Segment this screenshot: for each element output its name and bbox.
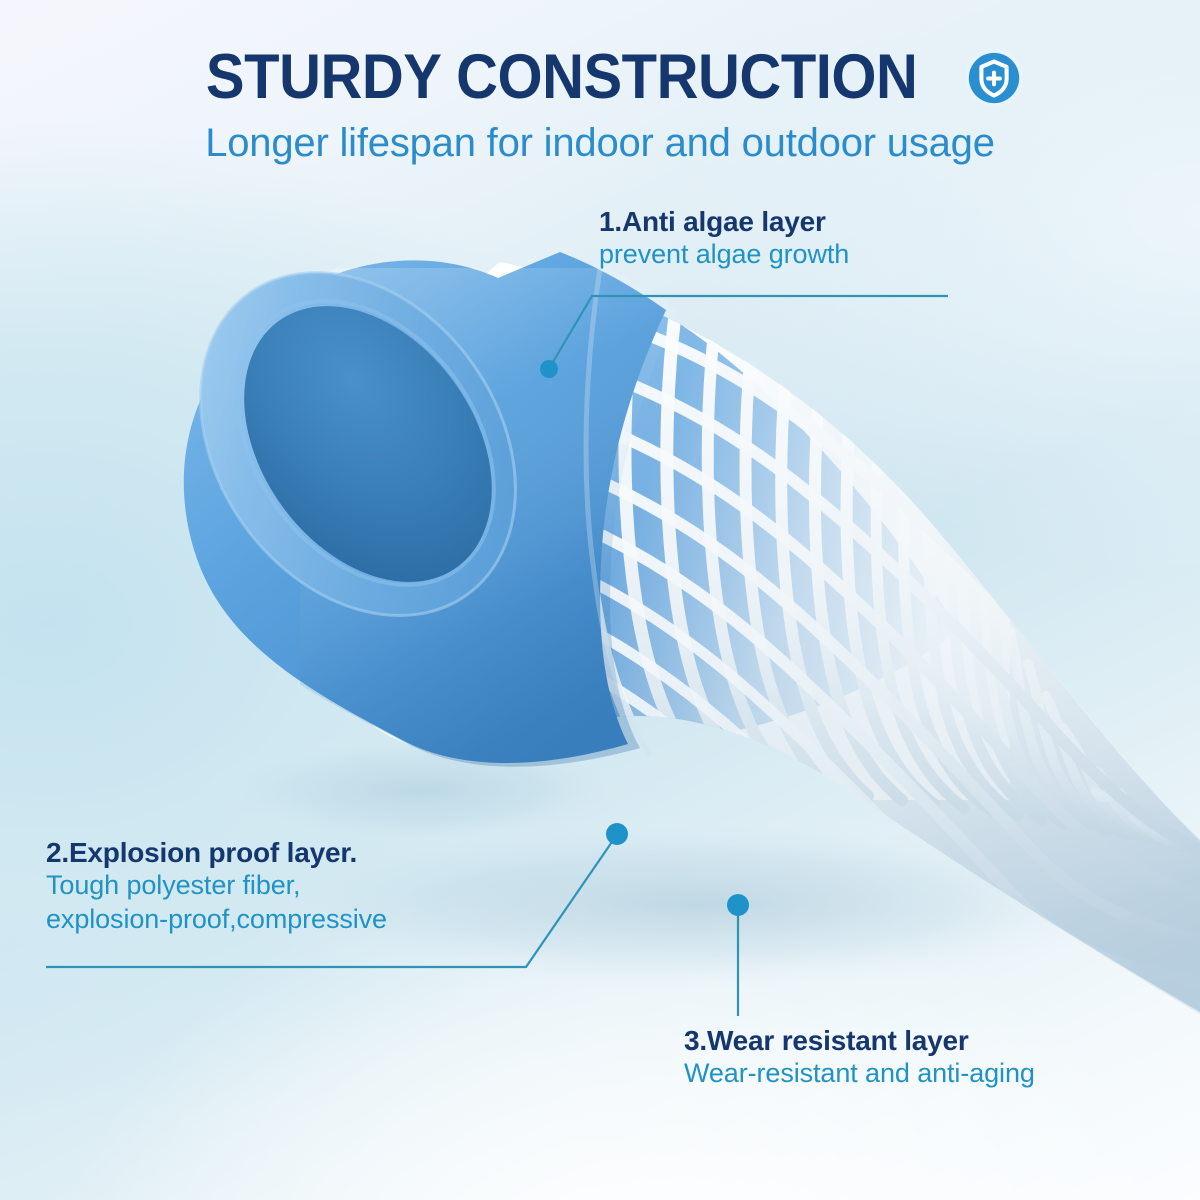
callout-2-desc: Tough polyester fiber,	[46, 869, 387, 902]
page-title: STURDY CONSTRUCTION	[206, 46, 917, 109]
callout-2-title: 2.Explosion proof layer.	[46, 836, 387, 869]
infographic-canvas: STURDY CONSTRUCTION Longer lifespan for …	[0, 0, 1200, 1200]
hose-illustration	[0, 0, 1200, 1200]
callout-explosion-proof: 2.Explosion proof layer. Tough polyester…	[46, 836, 387, 936]
callout-3-title: 3.Wear resistant layer	[684, 1024, 1035, 1057]
header: STURDY CONSTRUCTION Longer lifespan for …	[0, 0, 1200, 165]
title-row: STURDY CONSTRUCTION	[0, 46, 1200, 109]
callout-2-desc-2: explosion-proof,compressive	[46, 903, 387, 936]
callout-3-desc: Wear-resistant and anti-aging	[684, 1057, 1035, 1090]
callout-1-desc: prevent algae growth	[599, 238, 849, 271]
callout-wear-resistant: 3.Wear resistant layer Wear-resistant an…	[684, 1024, 1035, 1091]
shield-plus-icon	[963, 47, 1025, 109]
callout-1-title: 1.Anti algae layer	[599, 205, 849, 238]
callout-anti-algae: 1.Anti algae layer prevent algae growth	[599, 205, 849, 272]
page-subtitle: Longer lifespan for indoor and outdoor u…	[0, 121, 1200, 165]
